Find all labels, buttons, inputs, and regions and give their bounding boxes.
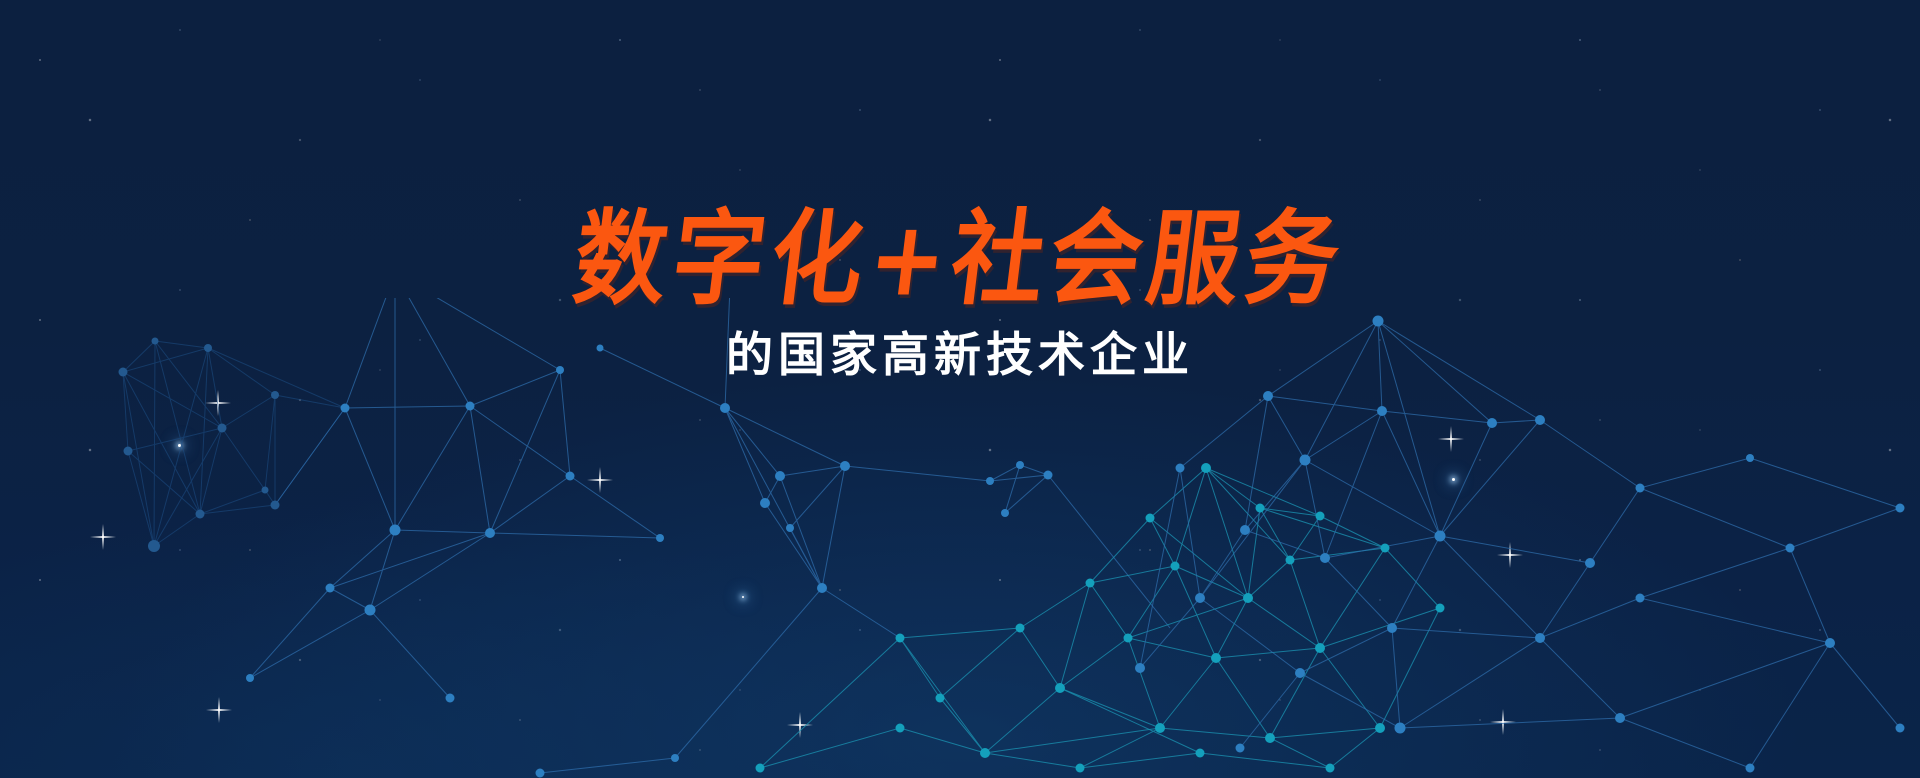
page-title: 数字化+社会服务 bbox=[569, 208, 1351, 311]
hero-text-block: 数字化+社会服务 的国家高新技术企业 bbox=[0, 214, 1920, 379]
page-subtitle: 的国家高新技术企业 bbox=[0, 332, 1920, 379]
hero-banner: .ln{stroke:#2f6fae;stroke-width:1;opacit… bbox=[0, 0, 1920, 778]
